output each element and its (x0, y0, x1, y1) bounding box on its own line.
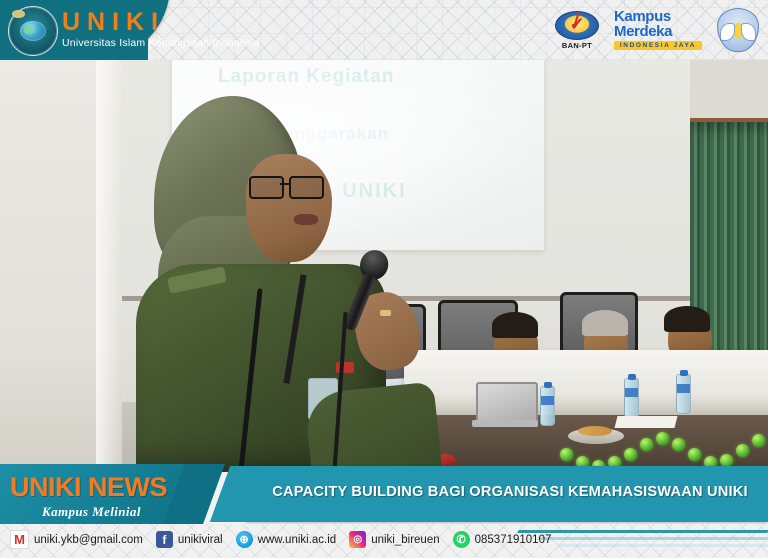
contact-whatsapp-label: 085371910107 (475, 534, 552, 546)
twh-shield-icon (717, 8, 759, 52)
facebook-icon: f (156, 531, 173, 548)
whatsapp-icon: ✆ (453, 531, 470, 548)
contact-instagram-label: uniki_bireuen (371, 534, 439, 546)
bottle-cap (544, 382, 552, 388)
wall-left-panel (0, 60, 122, 472)
twh-wing-right (741, 23, 756, 41)
kampus-merdeka-ribbon: INDONESIA JAYA (614, 41, 702, 50)
bottle-cap (628, 374, 636, 380)
speaker-face (246, 154, 332, 262)
kampus-merdeka-logo: Kampus Merdeka INDONESIA JAYA (614, 10, 702, 50)
contact-website[interactable]: ⊕ www.uniki.ac.id (236, 531, 337, 548)
headline-bar: CAPACITY BUILDING BAGI ORGANISASI KEMAHA… (246, 466, 768, 522)
contact-email[interactable]: M uniki.ykb@gmail.com (10, 530, 143, 549)
water-bottle (540, 386, 555, 426)
contact-facebook-label: unikiviral (178, 534, 223, 546)
panel-table (404, 350, 768, 422)
event-photo: Laporan Kegiatan Diselenggarakan oleh BE… (0, 60, 768, 472)
kampus-merdeka-line2: Merdeka (614, 25, 702, 39)
contact-strip: M uniki.ykb@gmail.com f unikiviral ⊕ www… (0, 524, 768, 558)
ban-pt-caption: BAN-PT (554, 41, 600, 50)
contact-instagram[interactable]: ◎ uniki_bireuen (349, 531, 439, 548)
laptop (472, 382, 538, 426)
speaker-person (118, 96, 398, 472)
emblem-ring (12, 10, 25, 18)
speaker-mouth (294, 214, 318, 225)
uniki-acronym: UNIKI (62, 10, 260, 35)
laptop-base (472, 420, 538, 427)
panelist-hair (492, 312, 538, 338)
water-bottle (676, 374, 691, 414)
contact-email-label: uniki.ykb@gmail.com (34, 534, 143, 546)
finger-ring (380, 310, 391, 316)
globe-icon: ⊕ (236, 531, 253, 548)
instagram-icon: ◎ (349, 531, 366, 548)
ban-pt-logo: BAN-PT (554, 11, 600, 50)
uniki-news-logo: UNIKI NEWS Kampus Melinial (0, 464, 196, 524)
water-bottle (624, 378, 639, 418)
uniki-fullname: Universitas Islam Kebangsaan Indonesia (62, 37, 260, 49)
accreditation-logos: BAN-PT Kampus Merdeka INDONESIA JAYA (554, 4, 760, 56)
glasses-bridge (280, 183, 289, 185)
contact-website-label: www.uniki.ac.id (258, 534, 337, 546)
emblem-globe (20, 21, 46, 41)
contact-list: M uniki.ykb@gmail.com f unikiviral ⊕ www… (10, 530, 551, 549)
gmail-icon: M (10, 530, 29, 549)
panelist-hair (664, 306, 710, 332)
headline-text: CAPACITY BUILDING BAGI ORGANISASI KEMAHA… (264, 484, 756, 500)
lens-right (289, 176, 324, 199)
uniki-news-tagline: Kampus Melinial (42, 504, 141, 520)
lens-left (249, 176, 284, 199)
eyeglasses-icon (249, 176, 327, 196)
bottle-cap (680, 370, 688, 376)
twh-wing-left (720, 23, 735, 41)
panelist-hair (582, 310, 628, 336)
contact-whatsapp[interactable]: ✆ 085371910107 (453, 531, 552, 548)
header-bar: UNIKI Universitas Islam Kebangsaan Indon… (0, 0, 768, 60)
tut-wuri-handayani-logo (716, 8, 760, 52)
ban-pt-disc-icon (555, 11, 599, 40)
contact-facebook[interactable]: f unikiviral (156, 531, 223, 548)
uniki-news-title: UNIKI NEWS (10, 474, 167, 501)
uniki-wordmark: UNIKI Universitas Islam Kebangsaan Indon… (62, 10, 260, 49)
curtain-upper-wall (690, 60, 768, 120)
bottom-banner: UNIKI NEWS Kampus Melinial CAPACITY BUIL… (0, 464, 768, 524)
uniki-emblem-icon (8, 6, 58, 56)
news-graphic: UNIKI Universitas Islam Kebangsaan Indon… (0, 0, 768, 558)
